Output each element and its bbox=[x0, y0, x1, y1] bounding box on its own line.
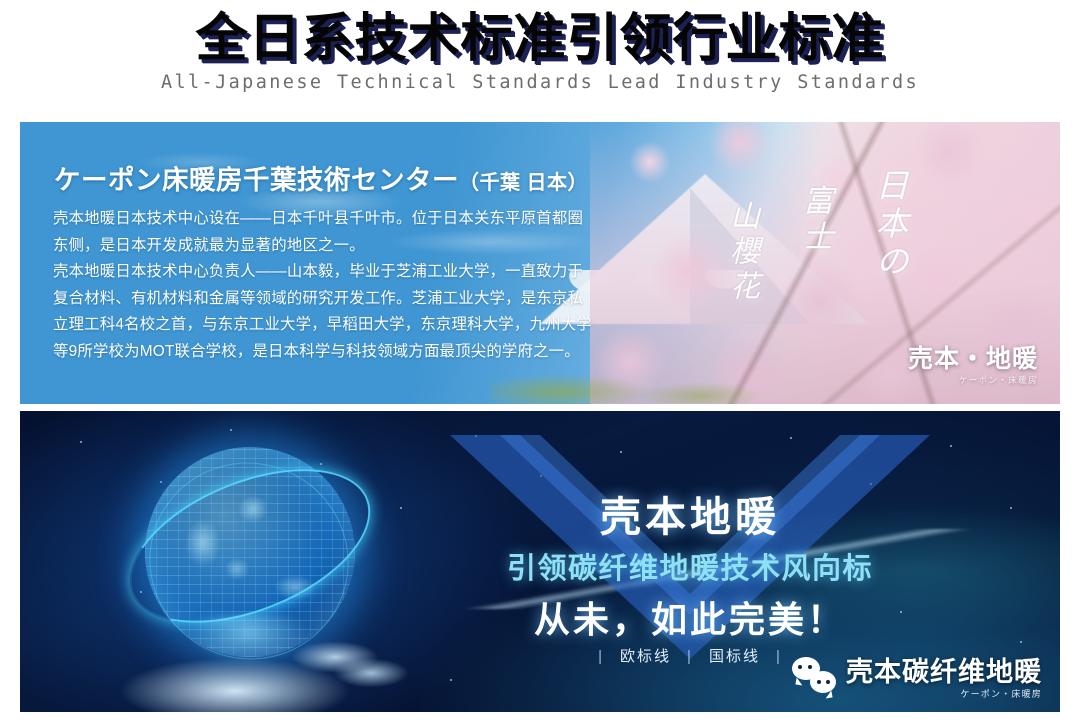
wechat-account-tagline: ケーポン・床暖房 bbox=[846, 687, 1042, 700]
banner-japan-tech-center: ケーポン床暖房千葉技術センター（千葉 日本） 壳本地暖日本技术中心设在——日本千… bbox=[20, 122, 1060, 404]
page-subtitle: All-Japanese Technical Standards Lead In… bbox=[0, 72, 1080, 93]
brand-slogan: 从未，如此完美！ bbox=[450, 591, 930, 643]
page-title: 全日系技术标准引领行业标准 bbox=[0, 8, 1080, 70]
brand-logo-japan: 売本・地暖 ケーポン・床暖房 bbox=[908, 339, 1038, 386]
banner-brand-slogan: 壳本地暖 引领碳纤维地暖技术风向标 从未，如此完美！ |欧标线|国标线| 壳本碳… bbox=[20, 411, 1060, 712]
banner-japan-body: 壳本地暖日本技术中心设在——日本千叶县千叶市。位于日本关东平原首都圈东侧，是日本… bbox=[53, 206, 598, 365]
wechat-account-badge[interactable]: 壳本碳纤维地暖 ケーポン・床暖房 bbox=[792, 650, 1042, 700]
foliage-decoration bbox=[490, 362, 810, 404]
page-header: 全日系技术标准引领行业标准 All-Japanese Technical Sta… bbox=[0, 8, 1080, 93]
banner-japan-heading-location: （千葉 日本） bbox=[459, 172, 588, 194]
brand-logo-name: 売本・地暖 bbox=[908, 339, 1038, 375]
wechat-account-text: 壳本碳纤维地暖 ケーポン・床暖房 bbox=[846, 650, 1042, 700]
banner-japan-paragraph-1: 壳本地暖日本技术中心设在——日本千叶县千叶市。位于日本关东平原首都圈东侧，是日本… bbox=[53, 206, 598, 259]
calligraphy-column-2: 富士 bbox=[794, 184, 834, 305]
page-root: 全日系技术标准引领行业标准 All-Japanese Technical Sta… bbox=[0, 0, 1080, 720]
tag-national-standard: 国标线 bbox=[709, 648, 760, 665]
banner-japan-paragraph-2: 壳本地暖日本技术中心负责人——山本毅，毕业于芝浦工业大学，一直致力于复合材料、有… bbox=[53, 259, 598, 365]
tag-euro-standard: 欧标线 bbox=[620, 648, 671, 665]
banner-japan-heading-main: ケーポン床暖房千葉技術センター bbox=[54, 165, 459, 195]
tag-separator-right: | bbox=[776, 648, 782, 665]
holographic-globe bbox=[115, 429, 415, 699]
open-hand-illustration bbox=[85, 621, 415, 712]
calligraphy-overlay: 日本の 富士 山櫻花 bbox=[722, 174, 910, 305]
brand-subtitle: 引领碳纤维地暖技术风向标 bbox=[430, 545, 950, 587]
wechat-icon bbox=[792, 657, 836, 693]
banner-japan-heading: ケーポン床暖房千葉技術センター（千葉 日本） bbox=[54, 158, 588, 197]
brand-title: 壳本地暖 bbox=[450, 483, 930, 543]
calligraphy-column-3: 山櫻花 bbox=[722, 200, 760, 305]
calligraphy-column-1: 日本の bbox=[868, 168, 910, 305]
brand-logo-tagline: ケーポン・床暖房 bbox=[908, 374, 1038, 386]
wechat-account-name: 壳本碳纤维地暖 bbox=[846, 657, 1042, 687]
tag-separator-middle: | bbox=[687, 648, 693, 665]
tag-separator-left: | bbox=[598, 648, 604, 665]
